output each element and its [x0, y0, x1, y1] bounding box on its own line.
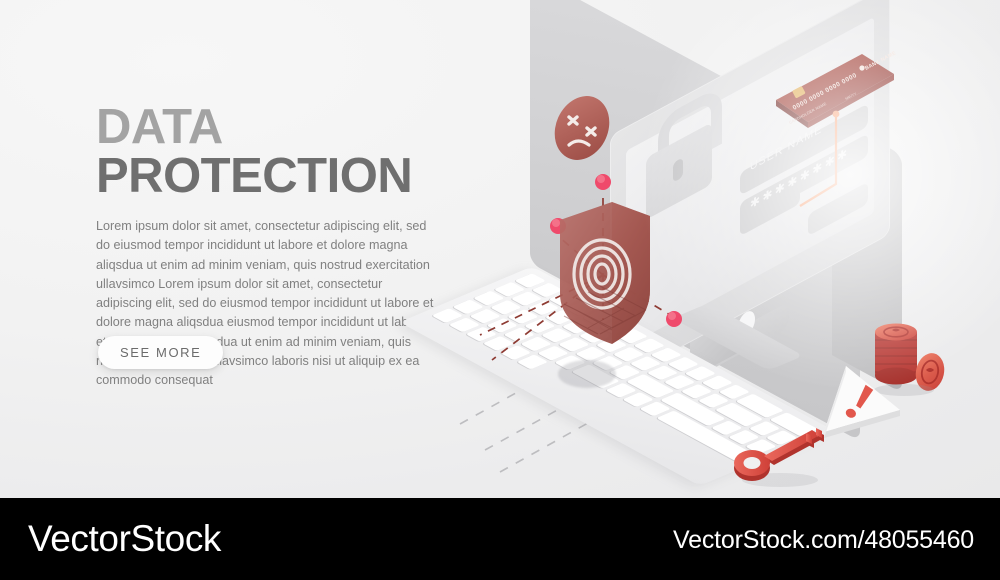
title-line-1: DATA — [96, 104, 446, 151]
security-key — [730, 418, 835, 490]
page-title: DATA PROTECTION — [96, 104, 446, 199]
credit-card: BANK NAME 0000 0000 0000 0000 MM/YY CARD… — [770, 48, 900, 158]
asset-url: VectorStock.com/48055460 — [673, 526, 974, 555]
banner-stage: DATA PROTECTION Lorem ipsum dolor sit am… — [0, 0, 1000, 580]
footer-banner: VectorStock VectorStock.com/48055460 — [0, 498, 1000, 580]
shield-shadow — [558, 360, 616, 388]
see-more-button[interactable]: SEE MORE — [98, 336, 223, 369]
brand-wordmark: VectorStock — [28, 518, 221, 560]
dead-face-emoji — [544, 88, 620, 168]
fingerprint-shield — [538, 186, 684, 358]
illustration-canvas: DATA PROTECTION Lorem ipsum dolor sit am… — [0, 0, 1000, 498]
title-line-2: PROTECTION — [96, 153, 446, 200]
isometric-artwork: USER NAME ✱✱✱✱✱✱✱✱ — [440, 20, 1000, 490]
